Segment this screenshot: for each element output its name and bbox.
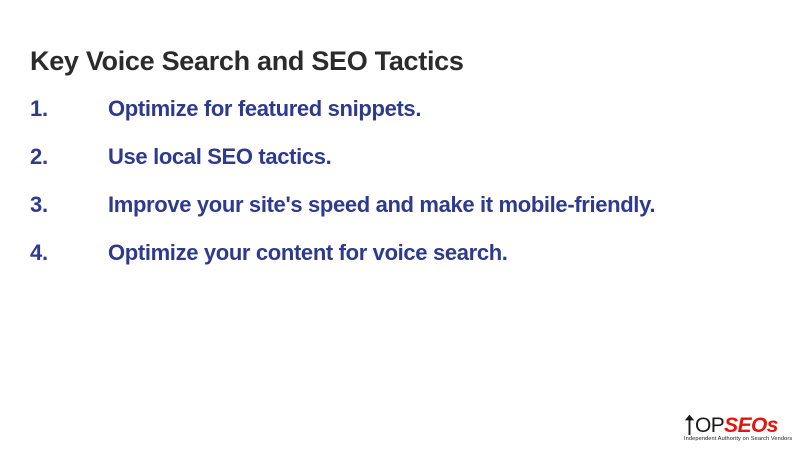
up-arrow-icon	[684, 414, 695, 435]
list-item-label: Improve your site's speed and make it mo…	[108, 192, 655, 218]
list-item-number: 4.	[30, 240, 108, 266]
list-item: 3. Improve your site's speed and make it…	[30, 192, 790, 240]
topseos-logo: OP SEOs Independent Authority on Search …	[684, 413, 792, 442]
list-item-label: Optimize for featured snippets.	[108, 96, 421, 122]
list-item: 2. Use local SEO tactics.	[30, 144, 790, 192]
numbered-tactics-list: 1. Optimize for featured snippets. 2. Us…	[30, 96, 790, 288]
list-item-number: 3.	[30, 192, 108, 218]
list-item-label: Use local SEO tactics.	[108, 144, 331, 170]
presentation-slide: Key Voice Search and SEO Tactics 1. Opti…	[0, 0, 800, 450]
logo-text-op: OP	[695, 415, 724, 436]
list-item: 1. Optimize for featured snippets.	[30, 96, 790, 144]
logo-text-seos: SEOs	[724, 415, 778, 436]
list-item-number: 2.	[30, 144, 108, 170]
page-title: Key Voice Search and SEO Tactics	[30, 46, 770, 77]
logo-wordmark: OP SEOs	[684, 413, 792, 435]
list-item-number: 1.	[30, 96, 108, 122]
list-item: 4. Optimize your content for voice searc…	[30, 240, 790, 288]
list-item-label: Optimize your content for voice search.	[108, 240, 508, 266]
